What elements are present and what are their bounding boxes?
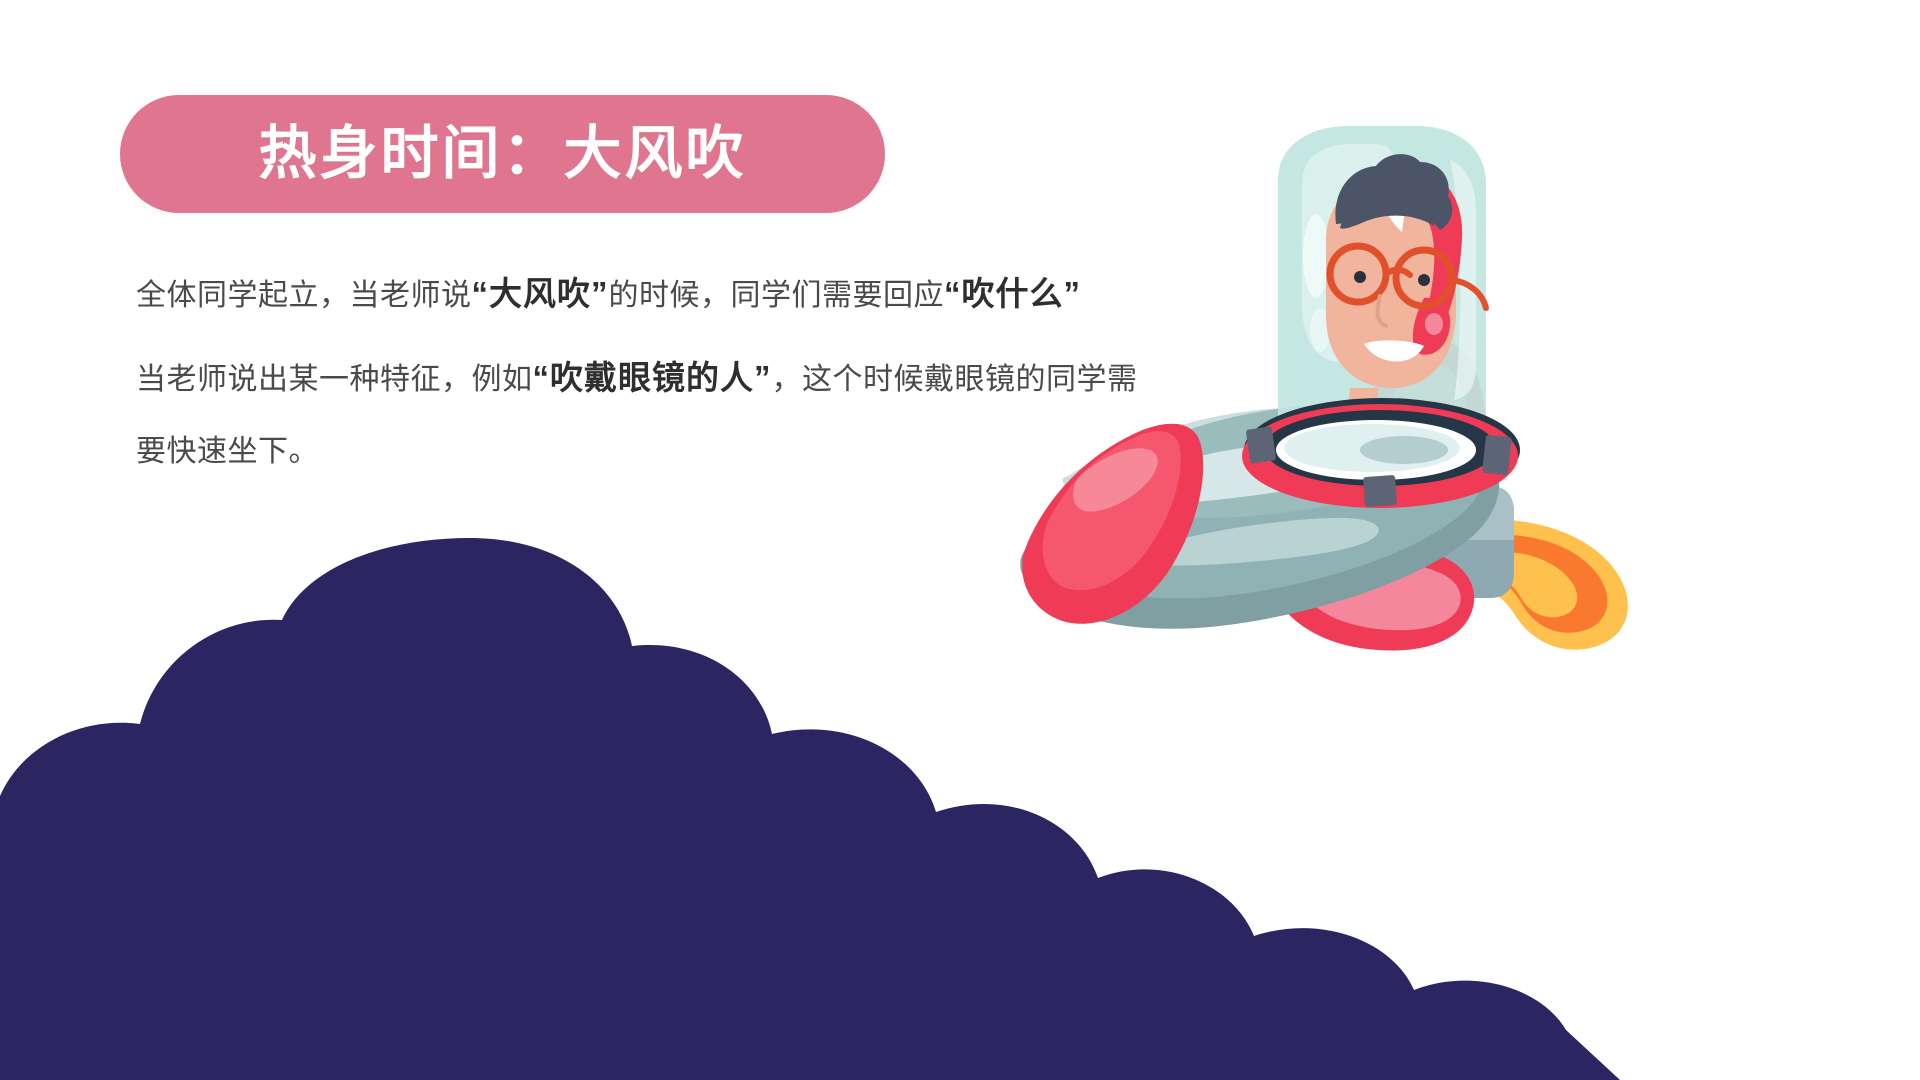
p1-seg-3: “吹什么” (944, 275, 1081, 312)
p2-seg-1: “吹戴眼镜的人” (533, 359, 772, 396)
body-copy: 全体同学起立，当老师说“大风吹”的时候，同学们需要回应“吹什么” 当老师说出某一… (136, 258, 1156, 492)
p1-seg-2: 的时候，同学们需要回应 (609, 279, 945, 312)
paragraph-1: 全体同学起立，当老师说“大风吹”的时候，同学们需要回应“吹什么” (136, 258, 1156, 332)
title-pill: 热身时间：大风吹 (120, 95, 885, 213)
p2-seg-0: 当老师说出某一种特征，例如 (136, 363, 533, 396)
p1-seg-1: “大风吹” (472, 275, 609, 312)
page-title: 热身时间：大风吹 (258, 125, 746, 183)
paragraph-2: 当老师说出某一种特征，例如“吹戴眼镜的人”，这个时候戴眼镜的同学需要快速坐下。 (136, 342, 1156, 488)
p1-seg-0: 全体同学起立，当老师说 (136, 279, 472, 312)
slide-root: 热身时间：大风吹 全体同学起立，当老师说“大风吹”的时候，同学们需要回应“吹什么… (0, 0, 1920, 1080)
cockpit-collar-ring (1242, 398, 1520, 508)
